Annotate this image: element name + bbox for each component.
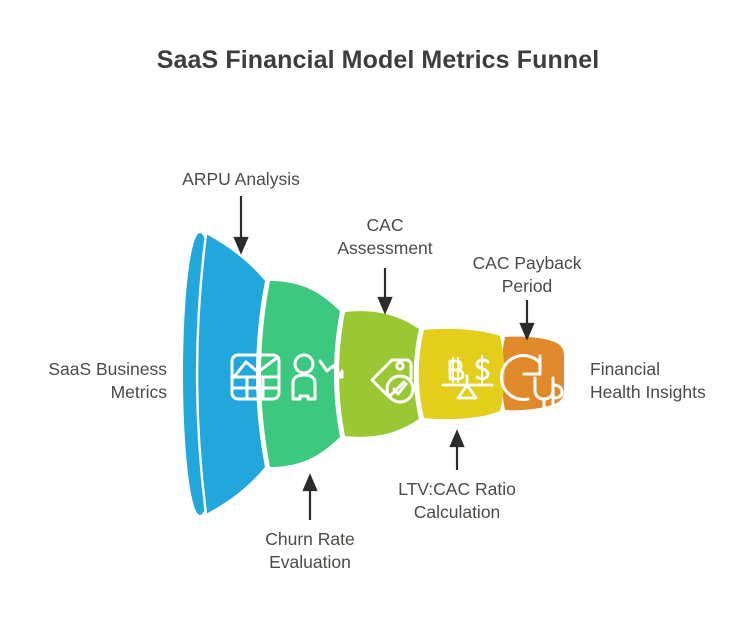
arrow-payback — [521, 300, 533, 338]
label-payback: CAC Payback Period — [427, 252, 627, 298]
arrow-ltv-cac — [451, 432, 463, 470]
label-ltv-cac: LTV:CAC Ratio Calculation — [357, 478, 557, 524]
arrow-churn — [304, 476, 316, 520]
funnel-segment-arpu[interactable] — [183, 233, 265, 515]
label-right-output: Financial Health Insights — [590, 358, 756, 404]
arrow-arpu — [235, 196, 247, 252]
diagram-canvas: SaaS Financial Model Metrics Funnel — [0, 0, 756, 624]
label-left-input: SaaS Business Metrics — [0, 358, 167, 404]
arrow-cac — [379, 268, 391, 312]
label-churn: Churn Rate Evaluation — [210, 528, 410, 574]
label-arpu: ARPU Analysis — [141, 168, 341, 191]
